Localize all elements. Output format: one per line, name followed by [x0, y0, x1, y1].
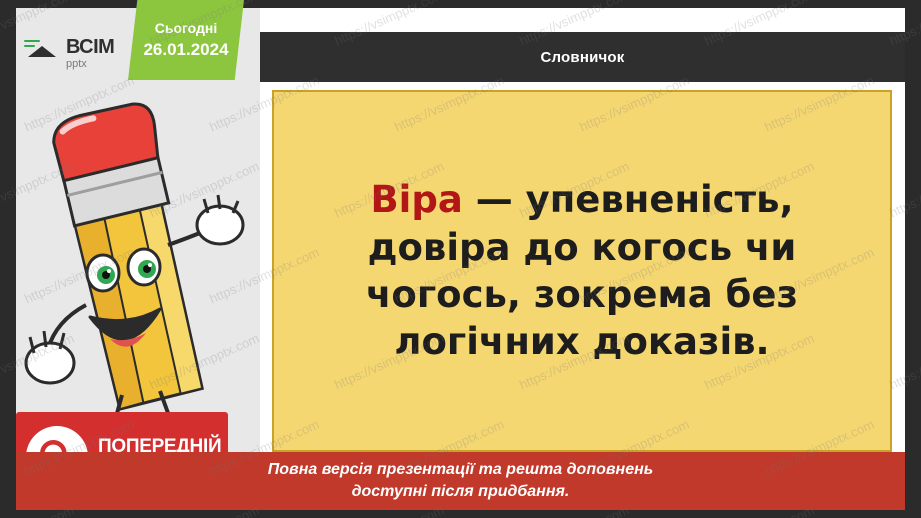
frame-bottom-border [0, 510, 921, 518]
logo-main-text: ВСІМ [66, 37, 114, 57]
date-badge-label: Сьогодні [155, 20, 218, 36]
date-badge: Сьогодні 26.01.2024 [128, 0, 244, 80]
definition-text: Віра — упевненість, довіра до когось чи … [296, 176, 868, 365]
frame-right-border [905, 0, 921, 518]
footer-line-1: Повна версія презентації та решта доповн… [268, 459, 654, 481]
graduation-cap-icon [24, 38, 60, 68]
logo-sub-text: pptx [66, 59, 114, 70]
frame-left-border [0, 0, 16, 518]
pencil-mascot-illustration [18, 95, 248, 425]
definition-term: Віра [370, 178, 462, 221]
slide-canvas: ВСІМ pptx Сьогодні 26.01.2024 Словничок … [0, 0, 921, 518]
date-badge-value: 26.01.2024 [143, 40, 228, 60]
definition-card: Віра — упевненість, довіра до когось чи … [272, 90, 892, 452]
footer-line-2: доступні після придбання. [268, 481, 654, 503]
footer-banner: Повна версія презентації та решта доповн… [16, 452, 905, 510]
section-header-bar: Словничок [260, 32, 905, 82]
section-title: Словничок [540, 49, 624, 66]
